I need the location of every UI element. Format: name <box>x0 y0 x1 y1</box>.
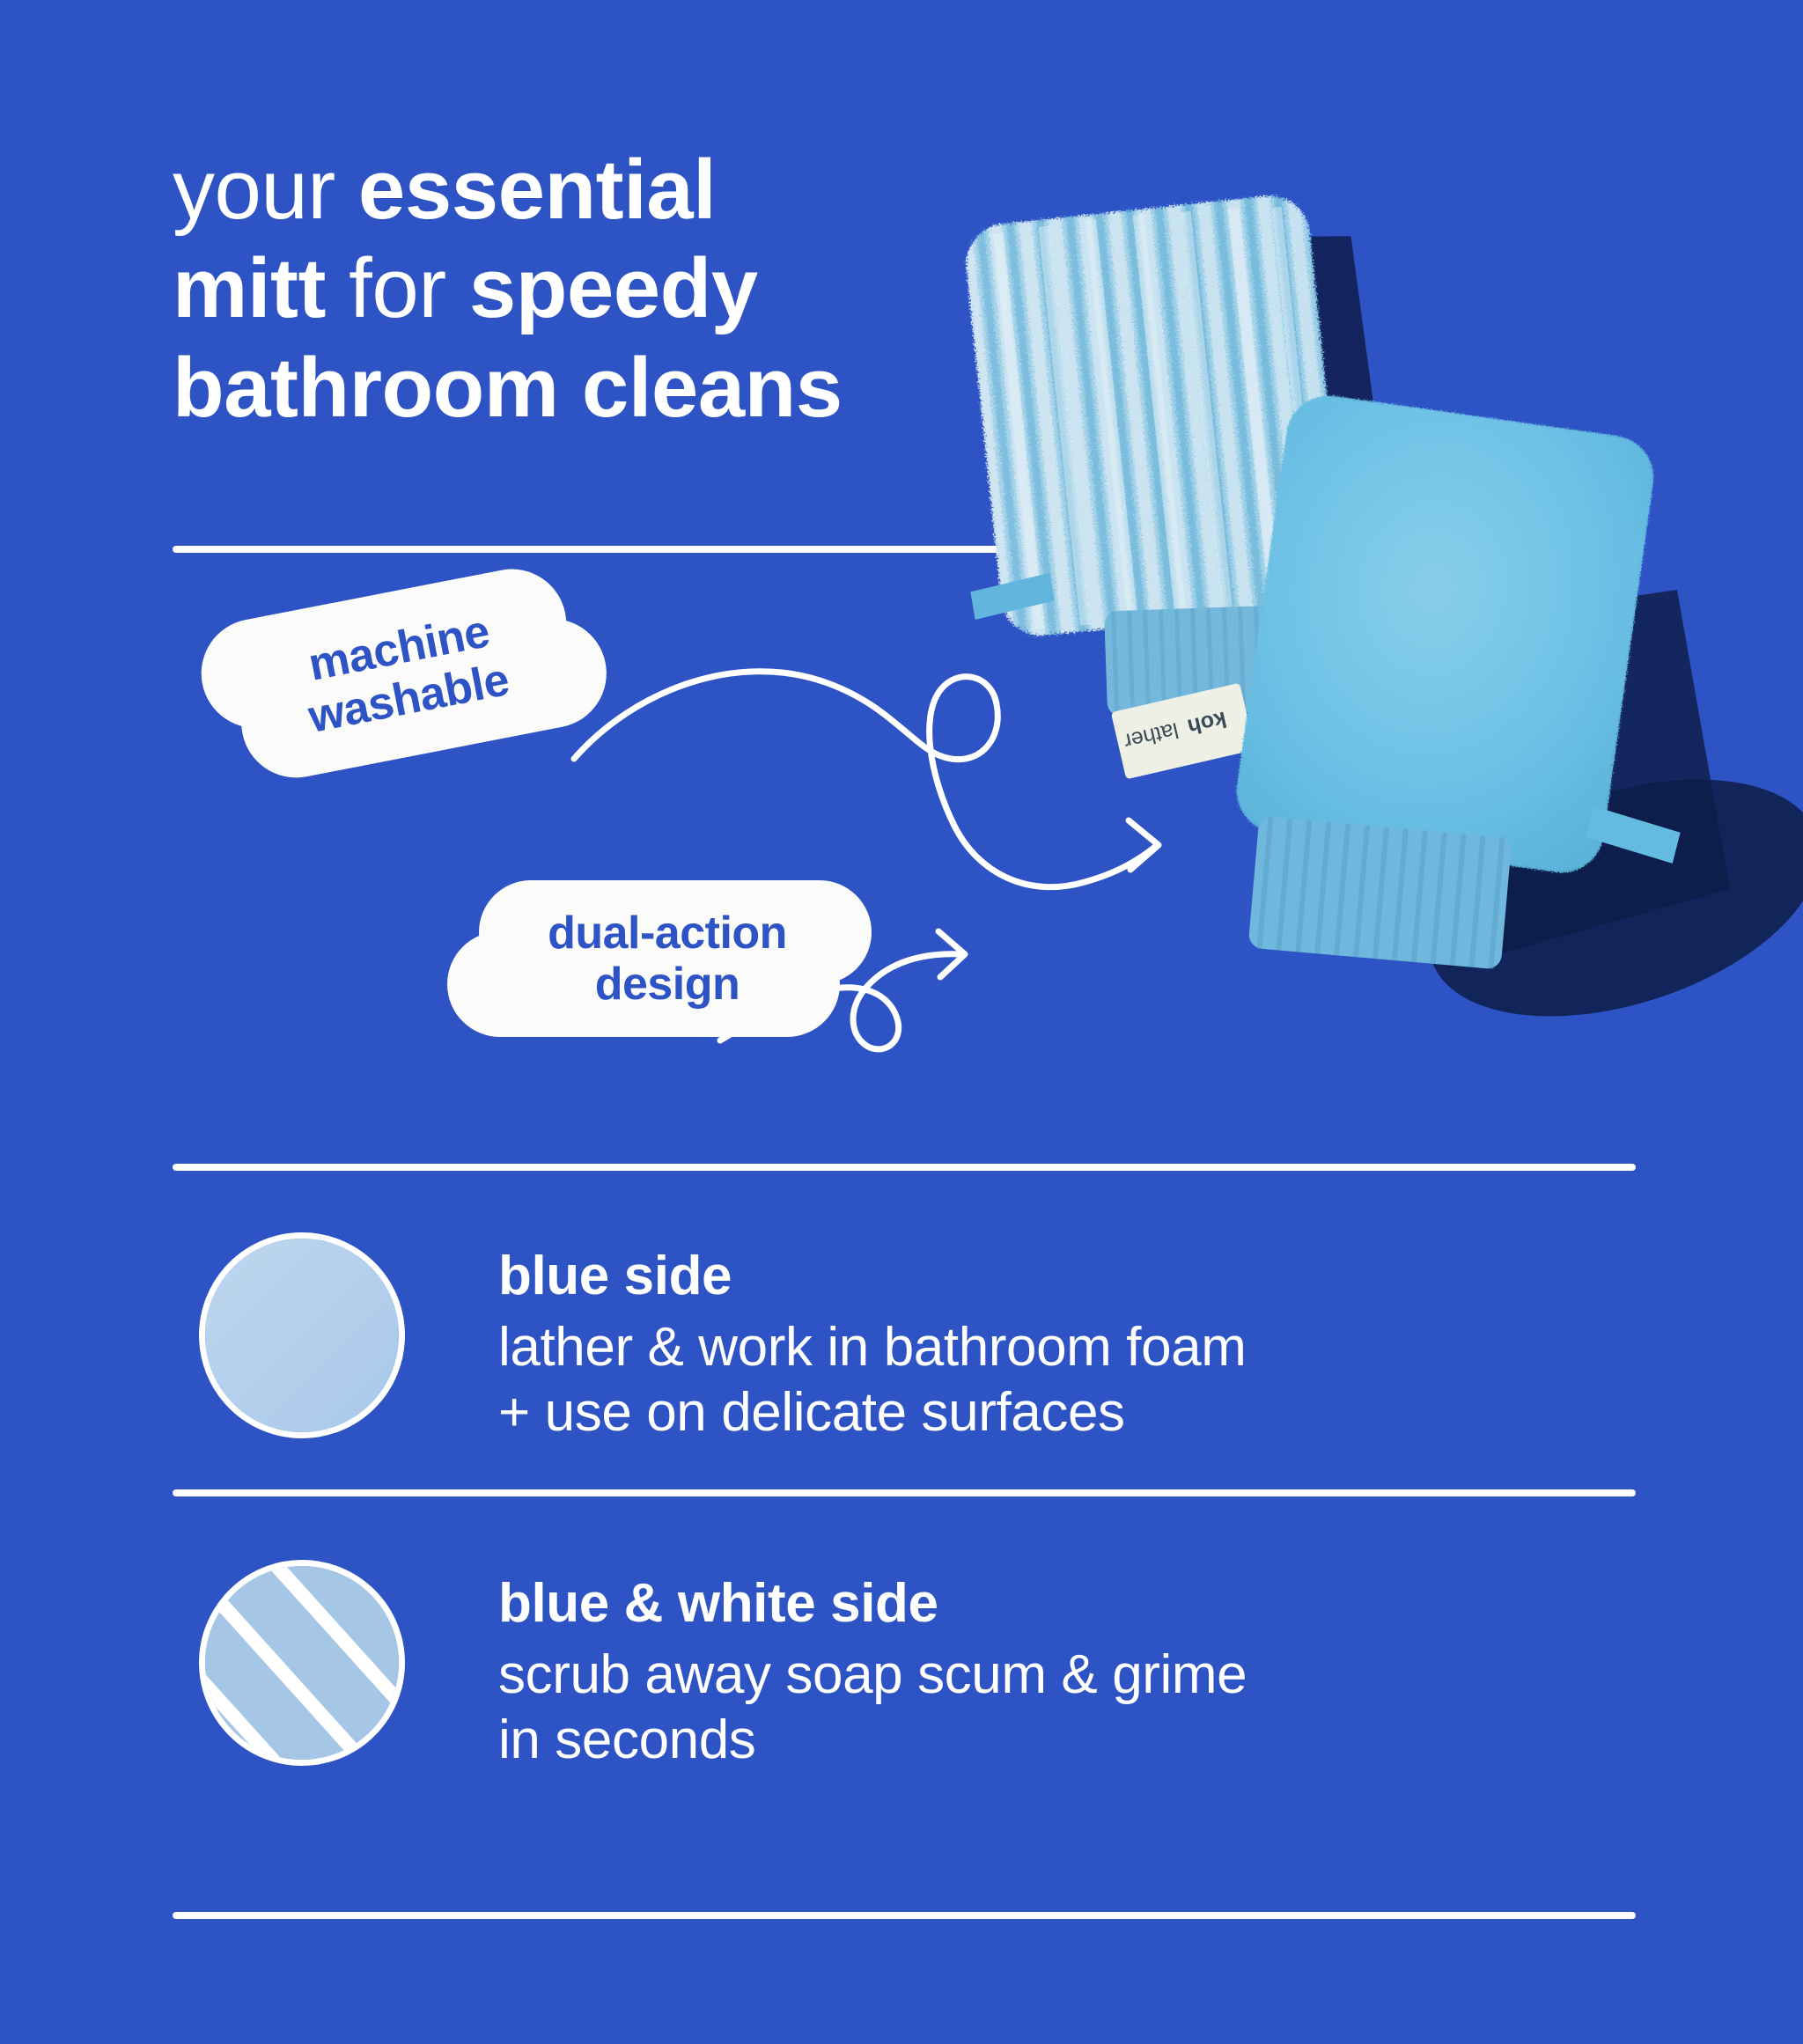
feature-body: lather & work in bathroom foam + use on … <box>498 1315 1247 1446</box>
feature-body-line-1: lather & work in bathroom foam <box>498 1315 1247 1380</box>
divider-above-blue-side <box>173 1164 1636 1171</box>
swatch-solid-blue-circle-icon <box>199 1232 405 1438</box>
badge-pill-stack: dual-action design <box>447 880 872 1037</box>
headline-bold-bathroom-cleans: bathroom cleans <box>173 341 843 435</box>
divider-under-headline <box>173 546 1027 553</box>
feature-title: blue side <box>498 1245 1247 1308</box>
feature-row-blue-side: blue side lather & work in bathroom foam… <box>199 1232 1247 1446</box>
badge-pill-stack: machine washable <box>192 560 586 793</box>
headline-line-3: bathroom cleans <box>173 339 1053 437</box>
badge-text: dual-action design <box>447 880 872 1037</box>
headline-line-1: your essential <box>173 141 1053 239</box>
badge-machine-washable: machine washable <box>192 560 586 793</box>
feature-title: blue & white side <box>498 1572 1247 1636</box>
badge-line-2: design <box>595 959 740 1010</box>
swatch-striped-circle-icon <box>199 1560 405 1766</box>
headline-bold-speedy: speedy <box>469 241 758 335</box>
headline-bold-mitt: mitt <box>173 241 326 335</box>
feature-body-line-1: scrub away soap scum & grime <box>498 1643 1247 1708</box>
badge-text: machine washable <box>192 560 586 793</box>
feature-body-line-2: + use on delicate surfaces <box>498 1380 1247 1445</box>
divider-between-features <box>173 1489 1636 1496</box>
headline-plain-for: for <box>326 241 469 335</box>
product-photo-two-mitts: koh lather <box>955 176 1803 1065</box>
feature-body: scrub away soap scum & grime in seconds <box>498 1643 1247 1774</box>
divider-bottom <box>173 1912 1636 1919</box>
badge-dual-action-design: dual-action design <box>447 880 872 1037</box>
feature-row-blue-white-side: blue & white side scrub away soap scum &… <box>199 1560 1247 1774</box>
headline-bold-essential: essential <box>358 143 716 237</box>
headline-plain-your: your <box>173 143 358 237</box>
feature-body-line-2: in seconds <box>498 1708 1247 1773</box>
page-title: your essential mitt for speedy bathroom … <box>173 141 1053 437</box>
headline-line-2: mitt for speedy <box>173 239 1053 338</box>
badge-line-1: dual-action <box>548 908 787 959</box>
feature-text: blue side lather & work in bathroom foam… <box>498 1232 1247 1446</box>
feature-text: blue & white side scrub away soap scum &… <box>498 1560 1247 1774</box>
promo-card: your essential mitt for speedy bathroom … <box>0 0 1803 2044</box>
